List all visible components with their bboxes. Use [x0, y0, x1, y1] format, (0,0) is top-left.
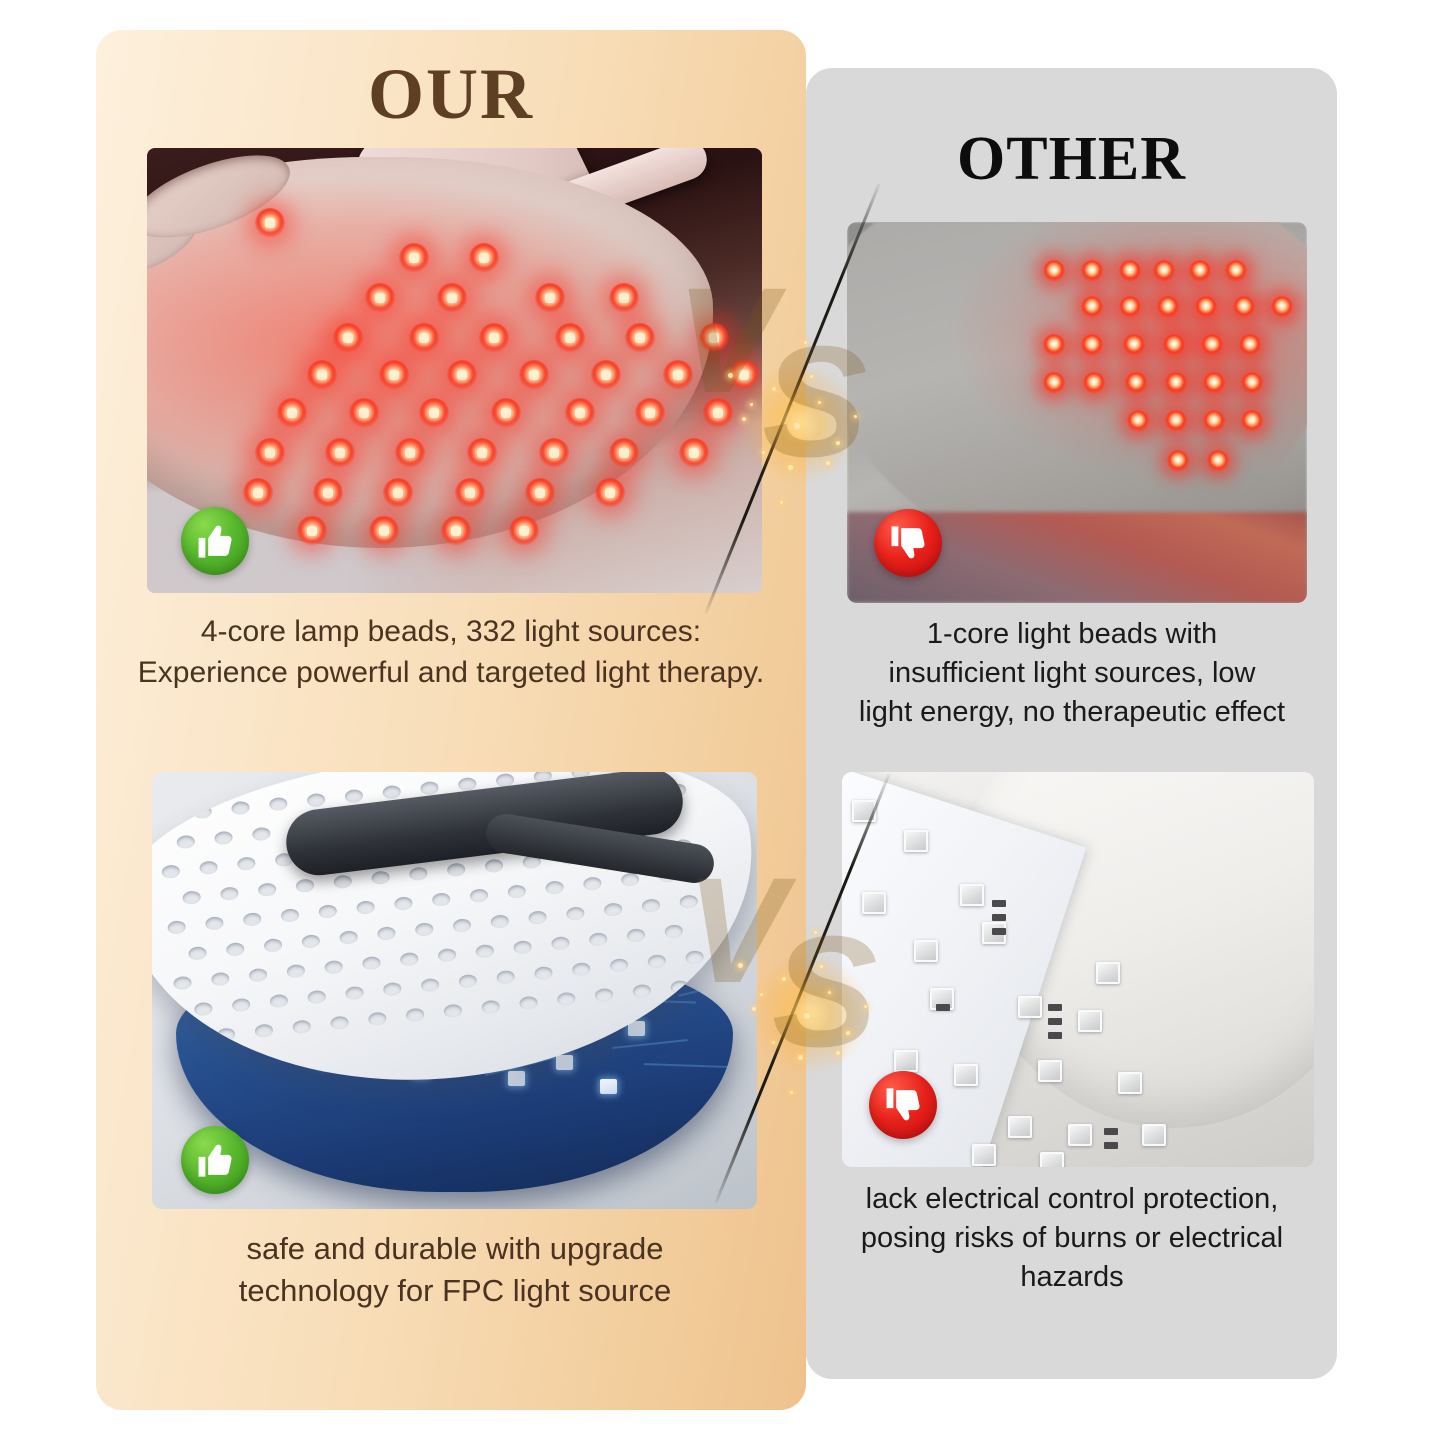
pcb-trace	[612, 1039, 688, 1049]
sparse-led	[1123, 334, 1145, 356]
sparse-led	[1119, 296, 1141, 318]
shell-hole	[496, 969, 515, 984]
shell-hole	[583, 876, 602, 891]
sparse-led	[1167, 450, 1189, 472]
shell-hole	[292, 1019, 311, 1034]
shell-hole	[269, 993, 288, 1008]
shell-hole	[399, 951, 418, 966]
caption-line: 4-core lamp beads, 332 light sources:	[106, 612, 796, 653]
shell-hole	[685, 950, 704, 965]
caption-line: posing risks of burns or electrical	[826, 1219, 1318, 1258]
shell-hole	[414, 922, 433, 937]
shell-hole	[216, 1027, 235, 1042]
fpc-resistor	[992, 914, 1006, 921]
led-bead	[441, 516, 471, 546]
led-bead	[379, 360, 409, 390]
pcb-trace	[644, 1063, 733, 1069]
shell-hole	[647, 953, 666, 968]
caption-line: technology for FPC light source	[150, 1270, 760, 1312]
shell-hole	[263, 938, 282, 953]
sparse-led	[1083, 372, 1105, 394]
sparse-led	[1125, 372, 1147, 394]
caption-line: hazards	[826, 1258, 1318, 1297]
led-bead	[609, 438, 639, 468]
led-bead	[729, 360, 759, 390]
led-bead	[519, 360, 549, 390]
led-bead	[535, 283, 565, 313]
thumbs-down-icon	[887, 522, 929, 564]
shell-hole	[382, 784, 401, 799]
shell-hole	[248, 967, 267, 982]
shell-hole	[368, 1011, 387, 1026]
shell-hole	[437, 947, 456, 962]
shell-hole	[409, 866, 428, 881]
pcb-led-chip	[556, 1055, 573, 1070]
sparse-led	[1165, 410, 1187, 432]
thumbs-up-icon	[194, 520, 236, 562]
shell-hole	[167, 919, 186, 934]
shell-hole	[205, 916, 224, 931]
sparse-led	[1153, 260, 1175, 282]
shell-hole	[475, 943, 494, 958]
shell-hole	[446, 862, 465, 877]
fpc-led-chip	[1118, 1072, 1142, 1094]
thumbs-down-badge	[874, 509, 942, 577]
shell-hole	[609, 957, 628, 972]
shell-hole	[295, 878, 314, 893]
shell-hole	[394, 896, 413, 911]
led-bead	[491, 398, 521, 428]
shell-hole	[679, 894, 698, 909]
shell-hole	[214, 830, 233, 845]
our-caption-top: 4-core lamp beads, 332 light sources: Ex…	[106, 612, 796, 693]
shell-hole	[269, 796, 288, 811]
shell-hole	[307, 989, 326, 1004]
fpc-resistor	[1048, 1018, 1062, 1025]
shell-hole	[519, 995, 538, 1010]
led-bead	[469, 243, 499, 273]
shell-hole	[231, 800, 250, 815]
shell-hole	[306, 792, 325, 807]
shell-hole	[193, 804, 212, 819]
shell-hole	[362, 955, 381, 970]
shell-hole	[484, 858, 503, 873]
led-bead	[625, 323, 655, 353]
shell-hole	[551, 935, 570, 950]
fpc-resistor	[992, 928, 1006, 935]
fpc-led-chip	[904, 830, 928, 852]
fpc-resistor	[936, 1004, 950, 1011]
shell-hole	[534, 965, 553, 980]
shell-hole	[452, 918, 471, 933]
fpc-resistor	[1104, 1128, 1118, 1135]
sparse-led	[1119, 260, 1141, 282]
sparse-led	[1207, 450, 1229, 472]
led-bead	[437, 283, 467, 313]
shell-hole	[458, 973, 477, 988]
led-bead	[365, 283, 395, 313]
pcb-led-chip	[600, 1079, 617, 1094]
shell-hole	[603, 902, 622, 917]
shell-hole	[405, 1007, 424, 1022]
led-bead	[325, 438, 355, 468]
sparse-led	[1233, 296, 1255, 318]
sparse-led	[1043, 334, 1065, 356]
led-bead	[539, 438, 569, 468]
thumbs-up-icon	[194, 1139, 236, 1181]
shell-hole	[594, 987, 613, 1002]
shell-hole	[528, 910, 547, 925]
sparse-led	[1239, 334, 1261, 356]
led-bead	[369, 516, 399, 546]
fpc-led-chip	[1142, 1124, 1166, 1146]
shell-hole	[481, 999, 500, 1014]
shell-hole	[210, 971, 229, 986]
shell-hole	[490, 914, 509, 929]
fpc-led-chip	[852, 800, 876, 822]
led-bead	[635, 398, 665, 428]
fpc-led-chip	[862, 892, 886, 914]
shell-hole	[420, 977, 439, 992]
fpc-resistor	[1048, 1032, 1062, 1039]
led-bead	[297, 516, 327, 546]
led-bead	[419, 398, 449, 428]
sparse-led	[1271, 296, 1293, 318]
shell-hole	[571, 961, 590, 976]
sparse-led	[1081, 260, 1103, 282]
shell-hole	[345, 985, 364, 1000]
thumbs-up-badge	[181, 507, 249, 575]
shell-hole	[280, 908, 299, 923]
led-bead	[255, 438, 285, 468]
shell-hole	[330, 1015, 349, 1030]
shell-hole	[664, 924, 683, 939]
shell-hole	[257, 882, 276, 897]
led-bead	[349, 398, 379, 428]
sparse-led	[1081, 296, 1103, 318]
shell-hole	[161, 864, 180, 879]
shell-hole	[344, 788, 363, 803]
fpc-led-chip	[1038, 1060, 1062, 1082]
shell-hole	[382, 981, 401, 996]
shell-hole	[231, 997, 250, 1012]
shell-hole	[225, 941, 244, 956]
fpc-led-chip	[960, 884, 984, 906]
shell-hole	[173, 975, 192, 990]
shell-hole	[286, 963, 305, 978]
shell-hole	[254, 1023, 273, 1038]
sparse-led	[1165, 372, 1187, 394]
fpc-resistor	[1048, 1004, 1062, 1011]
shell-hole	[632, 983, 651, 998]
other-caption-top: 1-core light beads with insufficient lig…	[826, 615, 1318, 732]
shell-hole	[220, 886, 239, 901]
led-bead	[307, 360, 337, 390]
shell-hole	[626, 928, 645, 943]
sparse-led	[1203, 372, 1225, 394]
shell-hole	[545, 880, 564, 895]
sparse-led	[1081, 334, 1103, 356]
shell-hole	[318, 904, 337, 919]
led-bead	[555, 323, 585, 353]
shell-hole	[371, 870, 390, 885]
fpc-led-chip	[1096, 962, 1120, 984]
shell-hole	[301, 934, 320, 949]
led-bead	[383, 478, 413, 508]
comparison-infographic: OUR OTHER	[0, 0, 1445, 1445]
shell-hole	[252, 826, 271, 841]
led-bead	[609, 283, 639, 313]
sparse-led	[1043, 372, 1065, 394]
shell-hole	[199, 860, 218, 875]
sparse-led	[1241, 372, 1263, 394]
led-bead	[313, 478, 343, 508]
sparse-led	[1043, 260, 1065, 282]
led-bead	[409, 323, 439, 353]
led-bead	[467, 438, 497, 468]
shell-hole	[457, 776, 476, 791]
caption-line: insufficient light sources, low	[826, 654, 1318, 693]
shell-hole	[420, 780, 439, 795]
sparse-led	[1195, 296, 1217, 318]
sparse-led	[1201, 334, 1223, 356]
shell-hole	[469, 888, 488, 903]
shell-hole	[333, 874, 352, 889]
shell-hole	[556, 991, 575, 1006]
led-bead	[399, 243, 429, 273]
sparse-led	[1127, 410, 1149, 432]
pcb-led-chip	[508, 1071, 525, 1086]
caption-line: light energy, no therapeutic effect	[826, 693, 1318, 732]
sparse-led	[1157, 296, 1179, 318]
led-bead	[525, 478, 555, 508]
caption-line: lack electrical control protection,	[826, 1180, 1318, 1219]
shell-hole	[237, 856, 256, 871]
other-title: OTHER	[806, 128, 1337, 190]
fpc-led-chip	[894, 1050, 918, 1072]
fpc-led-chip	[1040, 1152, 1064, 1167]
shell-hole	[176, 834, 195, 849]
fpc-led-chip	[914, 940, 938, 962]
sparse-led	[1241, 410, 1263, 432]
led-bead	[595, 478, 625, 508]
fpc-led-chip	[972, 1144, 996, 1166]
led-bead	[255, 208, 285, 238]
shell-hole	[242, 912, 261, 927]
led-bead	[509, 516, 539, 546]
fpc-led-chip	[954, 1064, 978, 1086]
led-bead	[591, 360, 621, 390]
fpc-led-chip	[1068, 1124, 1092, 1146]
led-bead	[703, 398, 733, 428]
thumbs-down-icon	[882, 1084, 924, 1126]
shell-hole	[443, 1003, 462, 1018]
led-bead	[663, 360, 693, 390]
fpc-led-chip	[1018, 996, 1042, 1018]
shell-hole	[588, 931, 607, 946]
led-bead	[679, 438, 709, 468]
fpc-resistor	[992, 900, 1006, 907]
sparse-led	[1163, 334, 1185, 356]
shell-hole	[431, 892, 450, 907]
led-bead	[565, 398, 595, 428]
shell-hole	[356, 900, 375, 915]
our-caption-bottom: safe and durable with upgrade technology…	[150, 1228, 760, 1312]
caption-line: safe and durable with upgrade	[150, 1228, 760, 1270]
led-bead	[243, 478, 273, 508]
led-bead	[395, 438, 425, 468]
shell-hole	[507, 884, 526, 899]
shell-hole	[182, 890, 201, 905]
shell-hole	[324, 959, 343, 974]
shell-hole	[377, 926, 396, 941]
thumbs-up-badge	[181, 1126, 249, 1194]
caption-line: 1-core light beads with	[826, 615, 1318, 654]
shell-hole	[188, 945, 207, 960]
shell-hole	[194, 1001, 213, 1016]
shell-hole	[513, 939, 532, 954]
our-title: OUR	[96, 58, 806, 130]
led-bead	[277, 398, 307, 428]
sparse-led	[1189, 260, 1211, 282]
led-bead	[333, 323, 363, 353]
sparse-led	[1225, 260, 1247, 282]
other-caption-bottom: lack electrical control protection, posi…	[826, 1180, 1318, 1297]
shell-hole	[641, 898, 660, 913]
shell-hole	[339, 930, 358, 945]
fpc-led-chip	[1078, 1010, 1102, 1032]
led-bead	[455, 478, 485, 508]
led-bead	[699, 323, 729, 353]
led-bead	[479, 323, 509, 353]
fpc-resistor	[1104, 1142, 1118, 1149]
fpc-led-chip	[1008, 1116, 1032, 1138]
led-bead	[447, 360, 477, 390]
shell-hole	[566, 906, 585, 921]
caption-line: Experience powerful and targeted light t…	[106, 653, 796, 694]
sparse-led	[1203, 410, 1225, 432]
thumbs-down-badge	[869, 1071, 937, 1139]
